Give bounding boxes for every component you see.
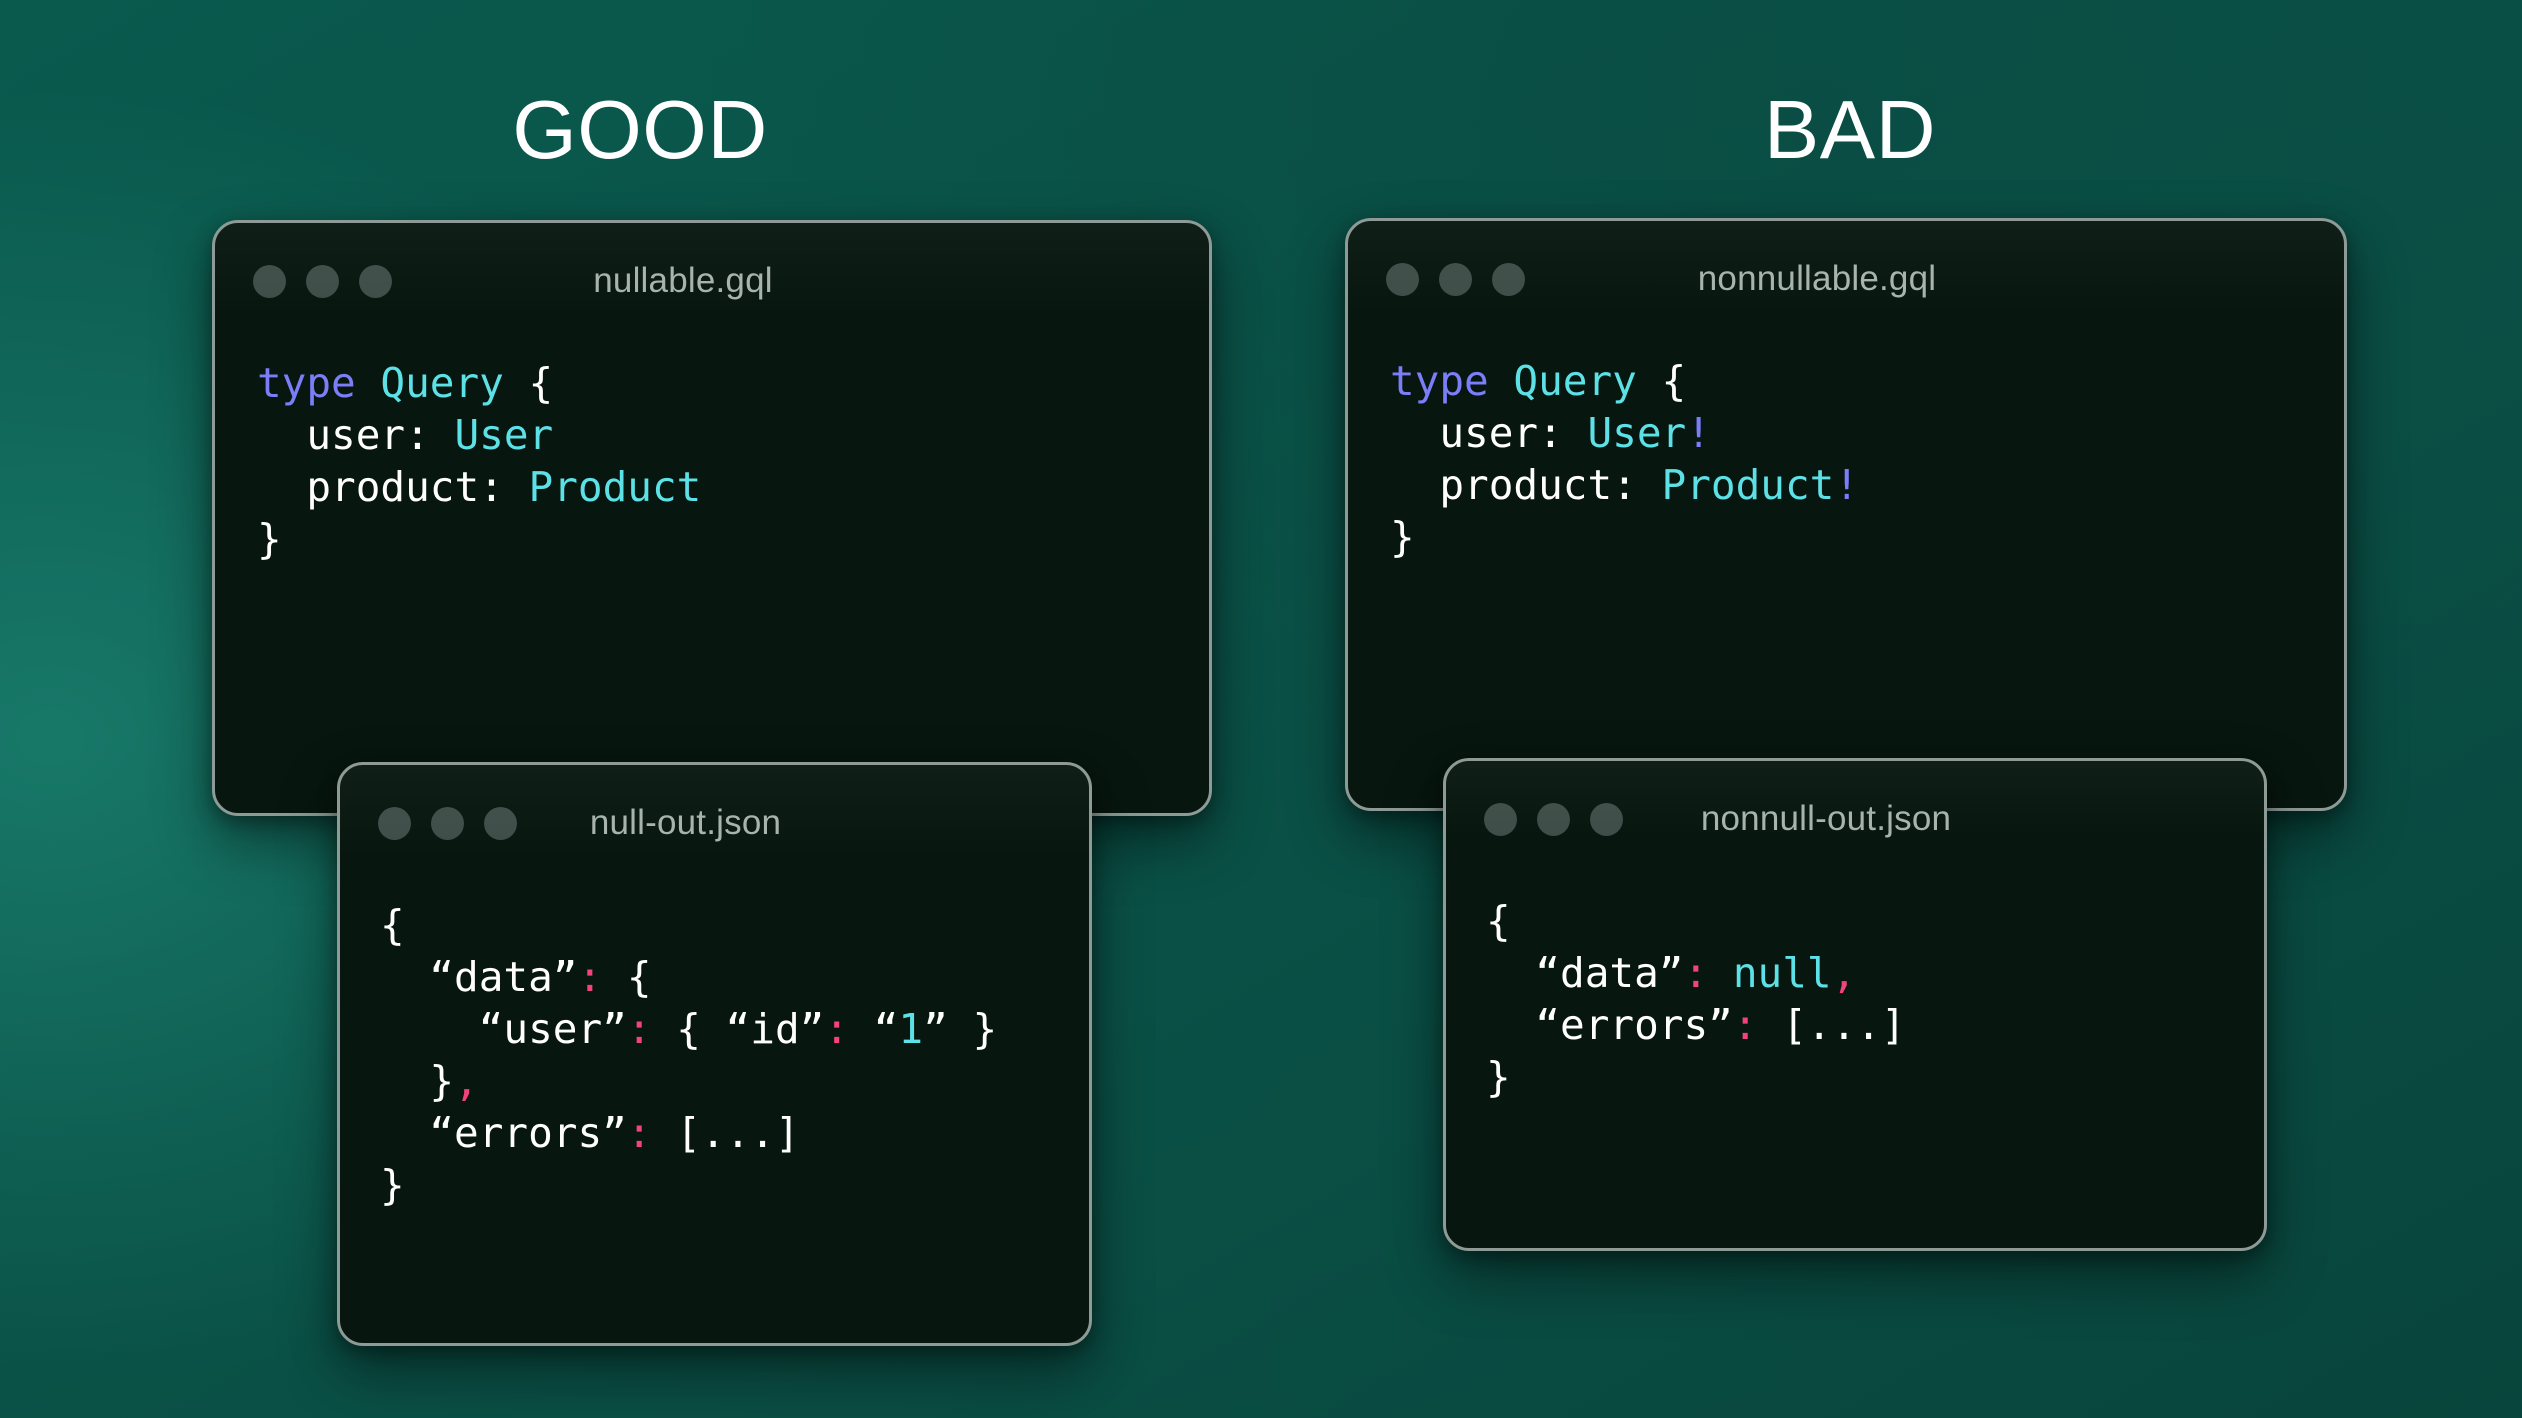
dot-close-icon[interactable]	[253, 265, 286, 298]
dot-zoom-icon[interactable]	[1492, 263, 1525, 296]
code-line: }	[257, 513, 1209, 565]
code-token: :	[1733, 1001, 1758, 1049]
code-block: type Query { user: User product: Product…	[215, 339, 1209, 565]
code-token: Query	[1513, 357, 1661, 405]
code-line: type Query {	[1390, 355, 2344, 407]
code-token: {	[380, 901, 405, 949]
code-token: “user”	[380, 1005, 627, 1053]
code-token: User	[454, 411, 553, 459]
code-token: [...]	[1758, 1001, 1906, 1049]
comparison-canvas: GOOD BAD nullable.gql type Query { user:…	[0, 0, 2522, 1418]
code-token: Product	[1662, 461, 1835, 509]
code-token: !	[1834, 461, 1859, 509]
code-token: { “id”	[652, 1005, 825, 1053]
code-token: Product	[529, 463, 702, 511]
titlebar[interactable]: nonnull-out.json	[1446, 761, 2264, 877]
code-token: :	[627, 1109, 652, 1157]
code-line: “errors”: [...]	[1486, 999, 2264, 1051]
traffic-lights	[378, 807, 517, 840]
dot-zoom-icon[interactable]	[484, 807, 517, 840]
code-line: }	[1390, 511, 2344, 563]
code-token: null	[1733, 949, 1832, 997]
code-token: {	[602, 953, 651, 1001]
code-token: “data”	[1486, 949, 1683, 997]
titlebar[interactable]: null-out.json	[340, 765, 1089, 881]
window-nonnullable-gql[interactable]: nonnullable.gql type Query { user: User!…	[1345, 218, 2347, 811]
code-line: “data”: null,	[1486, 947, 2264, 999]
code-token: :	[824, 1005, 849, 1053]
code-line: user: User!	[1390, 407, 2344, 459]
code-line: user: User	[257, 409, 1209, 461]
code-block: type Query { user: User! product: Produc…	[1348, 337, 2344, 563]
dot-minimize-icon[interactable]	[431, 807, 464, 840]
column-heading-bad: BAD	[1570, 88, 2130, 171]
code-token: }	[1486, 1053, 1511, 1101]
window-nullable-gql[interactable]: nullable.gql type Query { user: User pro…	[212, 220, 1212, 816]
code-token: user:	[257, 411, 454, 459]
code-token: product:	[257, 463, 529, 511]
code-line: {	[380, 899, 1089, 951]
dot-close-icon[interactable]	[1386, 263, 1419, 296]
code-token: {	[529, 359, 554, 407]
code-token: :	[627, 1005, 652, 1053]
titlebar[interactable]: nullable.gql	[215, 223, 1209, 339]
dot-minimize-icon[interactable]	[1439, 263, 1472, 296]
code-token: “	[849, 1005, 898, 1053]
code-line: }	[380, 1159, 1089, 1211]
code-line: }	[1486, 1051, 2264, 1103]
code-line: product: Product	[257, 461, 1209, 513]
dot-close-icon[interactable]	[378, 807, 411, 840]
dot-minimize-icon[interactable]	[1537, 803, 1570, 836]
code-block: { “data”: null, “errors”: [...]}	[1446, 877, 2264, 1103]
code-token: ,	[454, 1057, 479, 1105]
code-token: !	[1686, 409, 1711, 457]
code-token	[1708, 949, 1733, 997]
code-token: 1	[898, 1005, 923, 1053]
code-token: type	[1390, 357, 1513, 405]
dot-close-icon[interactable]	[1484, 803, 1517, 836]
dot-zoom-icon[interactable]	[359, 265, 392, 298]
code-token: :	[1683, 949, 1708, 997]
dot-minimize-icon[interactable]	[306, 265, 339, 298]
traffic-lights	[1484, 803, 1623, 836]
code-line: },	[380, 1055, 1089, 1107]
code-line: “errors”: [...]	[380, 1107, 1089, 1159]
window-nonnull-out-json[interactable]: nonnull-out.json { “data”: null, “errors…	[1443, 758, 2267, 1251]
code-token: }	[380, 1057, 454, 1105]
code-line: type Query {	[257, 357, 1209, 409]
code-token: type	[257, 359, 380, 407]
code-token: User	[1587, 409, 1686, 457]
code-token: ” }	[923, 1005, 997, 1053]
code-token: }	[257, 515, 282, 563]
column-heading-good: GOOD	[360, 88, 920, 171]
code-token: user:	[1390, 409, 1587, 457]
code-token: Query	[380, 359, 528, 407]
dot-zoom-icon[interactable]	[1590, 803, 1623, 836]
code-token: “data”	[380, 953, 577, 1001]
code-token: “errors”	[1486, 1001, 1733, 1049]
code-token: product:	[1390, 461, 1662, 509]
code-line: {	[1486, 895, 2264, 947]
code-token: {	[1486, 897, 1511, 945]
titlebar[interactable]: nonnullable.gql	[1348, 221, 2344, 337]
code-line: product: Product!	[1390, 459, 2344, 511]
code-token: {	[1662, 357, 1687, 405]
code-token: “errors”	[380, 1109, 627, 1157]
code-line: “user”: { “id”: “1” }	[380, 1003, 1089, 1055]
code-token: :	[577, 953, 602, 1001]
code-block: { “data”: { “user”: { “id”: “1” } }, “er…	[340, 881, 1089, 1211]
code-token: }	[1390, 513, 1415, 561]
code-token: }	[380, 1161, 405, 1209]
traffic-lights	[253, 265, 392, 298]
traffic-lights	[1386, 263, 1525, 296]
code-token: ,	[1832, 949, 1857, 997]
code-line: “data”: {	[380, 951, 1089, 1003]
window-null-out-json[interactable]: null-out.json { “data”: { “user”: { “id”…	[337, 762, 1092, 1346]
code-token: [...]	[652, 1109, 800, 1157]
